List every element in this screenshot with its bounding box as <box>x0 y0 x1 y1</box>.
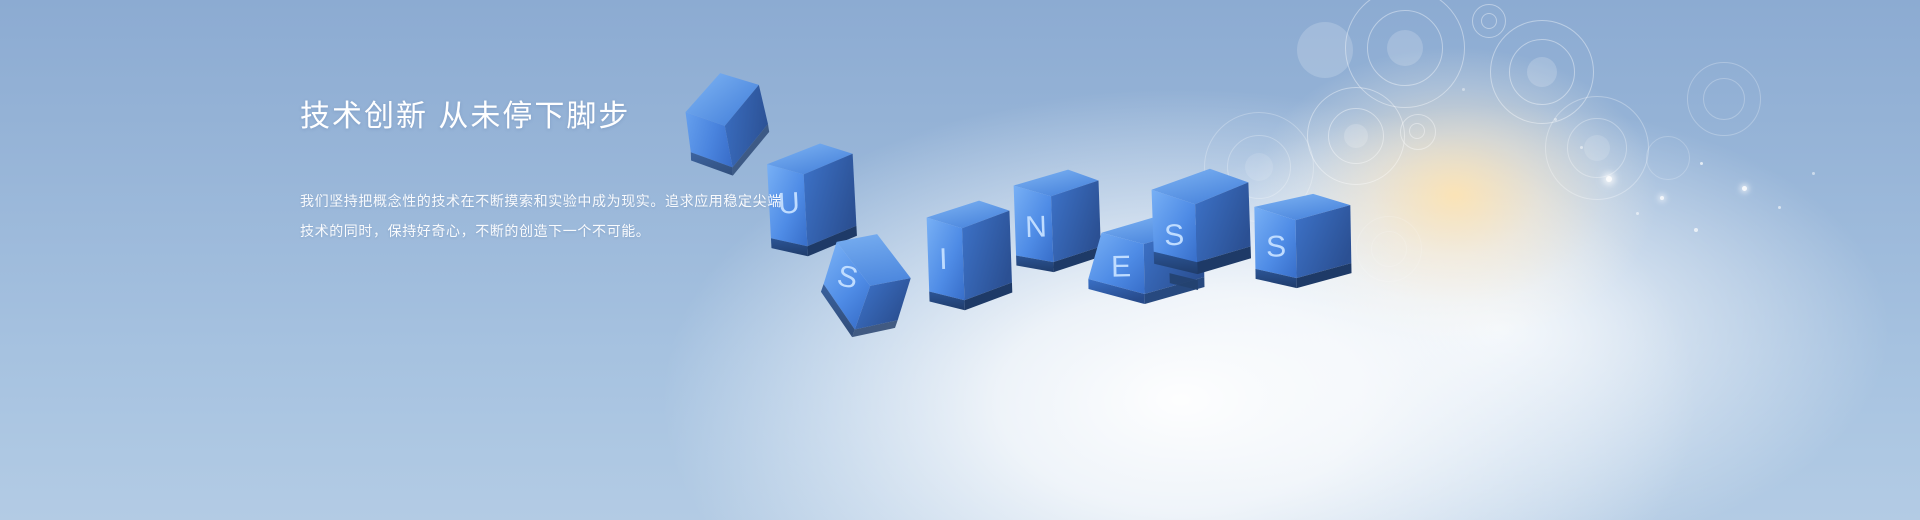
hero-banner: 技术创新 从未停下脚步 我们坚持把概念性的技术在不断摸索和实验中成为现实。追求应… <box>0 0 1920 520</box>
page-title: 技术创新 从未停下脚步 <box>300 96 860 138</box>
keycap-letter-s3: S <box>1266 230 1288 263</box>
sparkle-dot <box>1700 162 1703 165</box>
ring-outer-3 <box>1307 87 1405 185</box>
description-line-2: 技术的同时，保持好奇心，不断的创造下一个不可能。 <box>300 216 860 246</box>
hero-description: 我们坚持把概念性的技术在不断摸索和实验中成为现实。追求应用稳定尖端 技术的同时，… <box>300 186 860 246</box>
ring-core-2 <box>1527 57 1557 87</box>
keycap-group: U S I <box>0 0 1920 520</box>
ring-mid-2 <box>1509 39 1575 105</box>
ring-outer-2 <box>1490 20 1594 124</box>
keycap-letter-e: E <box>1111 250 1133 283</box>
sparkle-dot <box>1462 88 1465 91</box>
ring-mid-5 <box>1567 118 1627 178</box>
ring-core-5 <box>1584 135 1610 161</box>
ring-outer-7 <box>1646 136 1690 180</box>
description-line-1: 我们坚持把概念性的技术在不断摸索和实验中成为现实。追求应用稳定尖端 <box>300 186 860 216</box>
sparkle-dot <box>1694 228 1698 232</box>
keycap-letter-i: I <box>939 243 949 276</box>
sparkle-dot <box>1554 118 1557 121</box>
hero-copy: 技术创新 从未停下脚步 我们坚持把概念性的技术在不断摸索和实验中成为现实。追求应… <box>300 96 860 246</box>
keycap-letter-s2: S <box>1164 219 1186 253</box>
ring-core-3 <box>1344 124 1368 148</box>
sparkle-dot <box>1812 172 1815 175</box>
ring-outer-1 <box>1345 0 1465 108</box>
ring-small-mid-inner <box>1409 123 1425 139</box>
ring-mid-3 <box>1328 108 1384 164</box>
ring-mid-8 <box>1371 231 1407 267</box>
ring-mid-1 <box>1367 10 1443 86</box>
ring-mid-6 <box>1703 78 1745 120</box>
ring-blob <box>1297 22 1353 78</box>
ring-outer-8 <box>1356 216 1422 282</box>
ring-small-top-inner <box>1481 13 1497 29</box>
sparkle-dot <box>1660 196 1664 200</box>
keycap-letter-n: N <box>1025 210 1049 244</box>
ring-small-top <box>1472 4 1506 38</box>
ring-outer-5 <box>1545 96 1649 200</box>
ring-outer-6 <box>1687 62 1761 136</box>
keycap-s2[interactable]: S <box>1148 164 1256 296</box>
sparkle-dot <box>1606 176 1612 182</box>
ring-small-mid <box>1400 114 1436 150</box>
sparkle-dot <box>1636 212 1639 215</box>
sparkle-dot <box>1580 146 1583 149</box>
sparkle-dot <box>1742 186 1747 191</box>
keycap-s3[interactable]: S <box>1251 191 1355 297</box>
keycap-i[interactable]: I <box>923 196 1017 315</box>
sparkle-dot <box>1778 206 1781 209</box>
ring-core-1 <box>1387 30 1423 66</box>
